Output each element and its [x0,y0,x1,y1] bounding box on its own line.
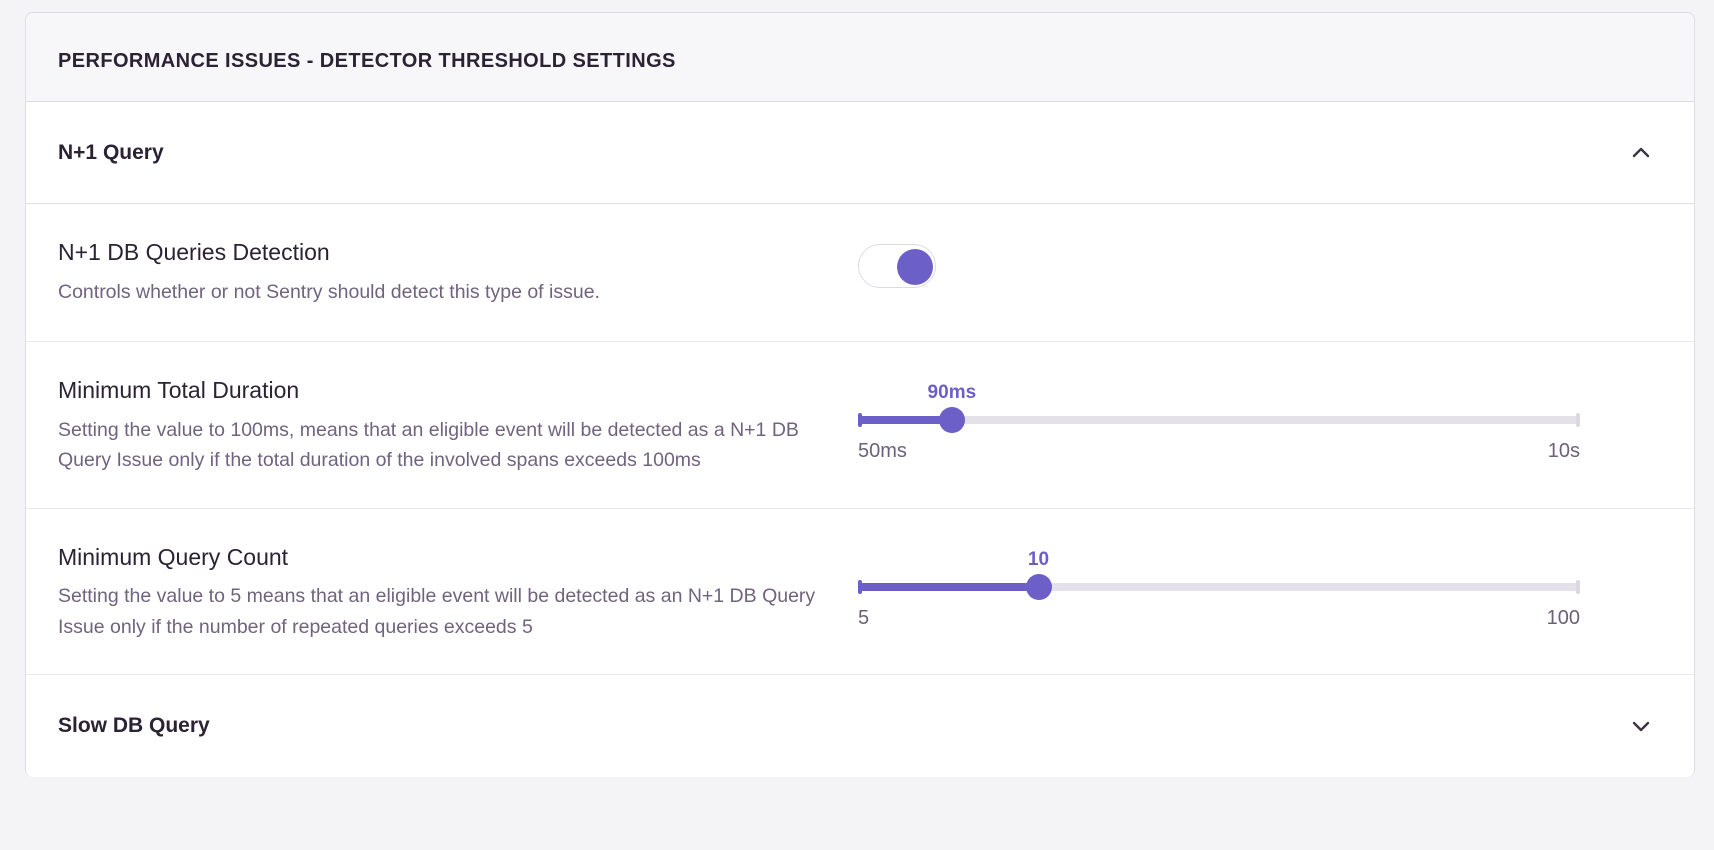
slider-min-label: 50ms [858,440,907,463]
slider-max-label: 100 [1547,607,1580,630]
slider-thumb[interactable] [1026,574,1052,600]
field-row-n-plus-1-db-queries-detection: N+1 DB Queries Detection Controls whethe… [26,204,1694,342]
group-title: Slow DB Query [58,714,210,738]
slider-start-cap [858,413,862,427]
detector-threshold-settings-panel: PERFORMANCE ISSUES - DETECTOR THRESHOLD … [25,12,1695,777]
chevron-up-icon[interactable] [1618,130,1664,176]
slider-fill [858,416,952,424]
field-row-minimum-total-duration: Minimum Total Duration Setting the value… [26,342,1694,509]
field-help-text: Controls whether or not Sentry should de… [58,277,818,307]
field-label: Minimum Query Count [58,543,858,572]
slider-track[interactable] [858,416,1580,424]
group-title: N+1 Query [58,141,164,165]
slider-track[interactable] [858,583,1580,591]
slider-fill [858,583,1039,591]
field-text: Minimum Query Count Setting the value to… [58,543,858,643]
slider-minimum-query-count[interactable]: 10 5 100 [858,549,1580,630]
slider-min-label: 5 [858,607,869,630]
slider-bounds: 5 100 [858,607,1580,630]
field-label: N+1 DB Queries Detection [58,238,858,267]
field-control [858,238,1662,288]
field-label: Minimum Total Duration [58,376,858,405]
field-help-text: Setting the value to 5 means that an eli… [58,581,818,642]
field-help-text: Setting the value to 100ms, means that a… [58,415,818,476]
slider-minimum-total-duration[interactable]: 90ms 50ms 10s [858,382,1580,463]
toggle-knob [897,249,933,285]
slider-thumb[interactable] [939,407,965,433]
field-text: Minimum Total Duration Setting the value… [58,376,858,476]
field-control: 90ms 50ms 10s [858,376,1662,463]
slider-value-label: 10 [1028,549,1049,571]
slider-end-cap [1576,580,1580,594]
field-text: N+1 DB Queries Detection Controls whethe… [58,238,858,307]
group-header-n-plus-1-query[interactable]: N+1 Query [26,102,1694,204]
slider-value-label: 90ms [928,382,977,404]
slider-bounds: 50ms 10s [858,440,1580,463]
slider-end-cap [1576,413,1580,427]
toggle-n-plus-1-db-queries-detection[interactable] [858,244,936,288]
slider-max-label: 10s [1548,440,1580,463]
chevron-down-icon[interactable] [1618,703,1664,749]
group-header-slow-db-query[interactable]: Slow DB Query [26,675,1694,777]
panel-header: PERFORMANCE ISSUES - DETECTOR THRESHOLD … [26,13,1694,102]
field-row-minimum-query-count: Minimum Query Count Setting the value to… [26,509,1694,676]
page-title: PERFORMANCE ISSUES - DETECTOR THRESHOLD … [58,51,1662,71]
slider-start-cap [858,580,862,594]
field-control: 10 5 100 [858,543,1662,630]
